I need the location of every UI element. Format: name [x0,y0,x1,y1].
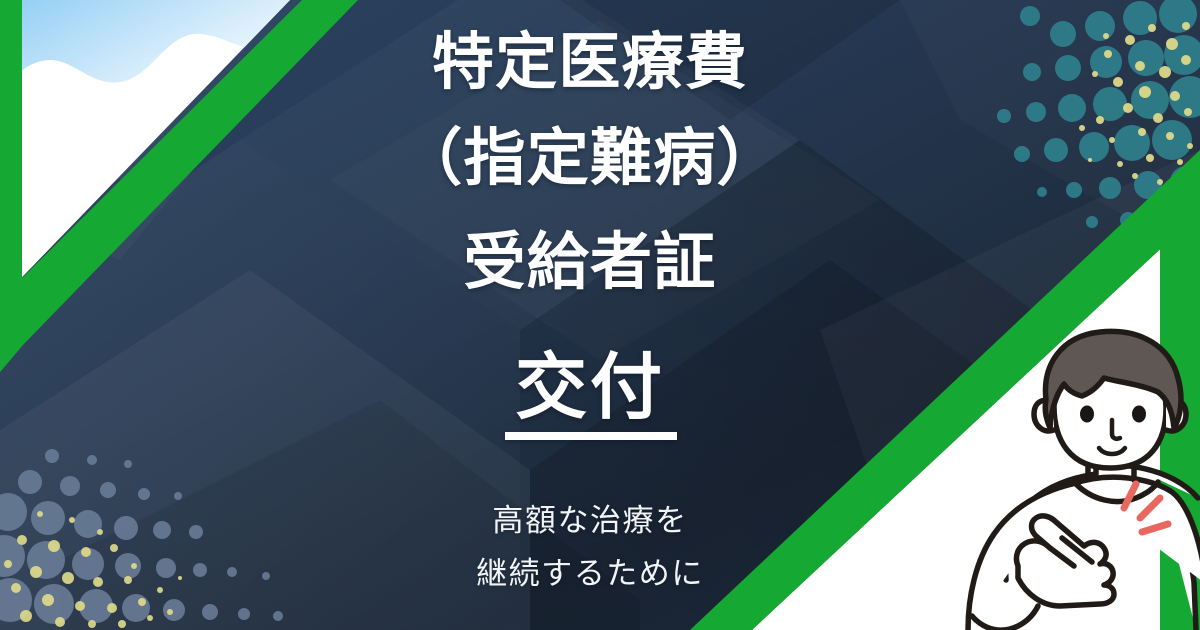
person-illustration [0,0,1200,630]
banner-root: 特定医療費 （指定難病） 受給者証 交付 高額な治療を 継続するために [0,0,1200,630]
hand [1016,516,1114,606]
